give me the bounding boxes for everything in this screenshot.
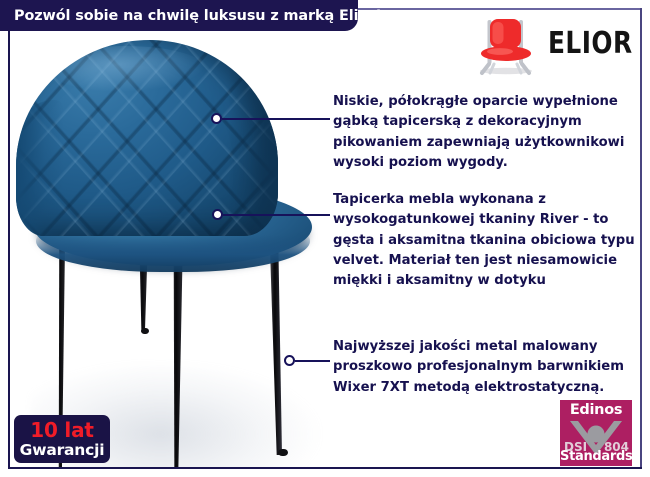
border-right	[640, 8, 642, 469]
warranty-label: Gwarancji	[20, 443, 105, 459]
callout-marker-2[interactable]	[212, 209, 223, 220]
chair-foot-back-left	[141, 328, 149, 334]
header-banner: Pozwól sobie na chwilę luksusu z marką E…	[0, 0, 358, 31]
red-chair-icon	[470, 14, 542, 76]
header-rule	[352, 8, 642, 10]
leader-line-3	[295, 360, 330, 362]
callout-marker-1[interactable]	[211, 113, 222, 124]
product-infographic: Pozwól sobie na chwilę luksusu z marką E…	[0, 0, 650, 477]
brand-logo: ELIOR	[470, 14, 640, 76]
edinos-certificate-badge: Edinos DSI 804 Standards	[560, 400, 632, 466]
feature-text-fabric: Tapicerka mebla wykonana z wysokogatunko…	[333, 190, 639, 291]
edinos-title: Edinos	[560, 402, 632, 418]
chair-backrest	[16, 40, 278, 236]
page-title: Pozwól sobie na chwilę luksusu z marką E…	[0, 8, 382, 24]
warranty-badge: 10 lat Gwarancji	[14, 415, 110, 463]
border-bottom	[8, 467, 642, 469]
backrest-right-edge	[228, 50, 278, 236]
edinos-footer: Standards	[560, 449, 632, 464]
backrest-highlight	[46, 46, 206, 92]
chair-foot-front-right	[278, 449, 288, 456]
brand-name: ELIOR	[548, 26, 633, 61]
feature-text-metal: Najwyższej jakości metal malowany proszk…	[333, 337, 639, 398]
product-image	[10, 32, 330, 467]
warranty-years: 10 lat	[30, 420, 94, 440]
callout-marker-3[interactable]	[284, 355, 295, 366]
leader-line-1	[222, 118, 330, 120]
leader-line-2	[223, 214, 330, 216]
feature-text-backrest: Niskie, półokrągłe oparcie wypełnione gą…	[333, 92, 639, 173]
backrest-left-wing	[16, 100, 64, 236]
